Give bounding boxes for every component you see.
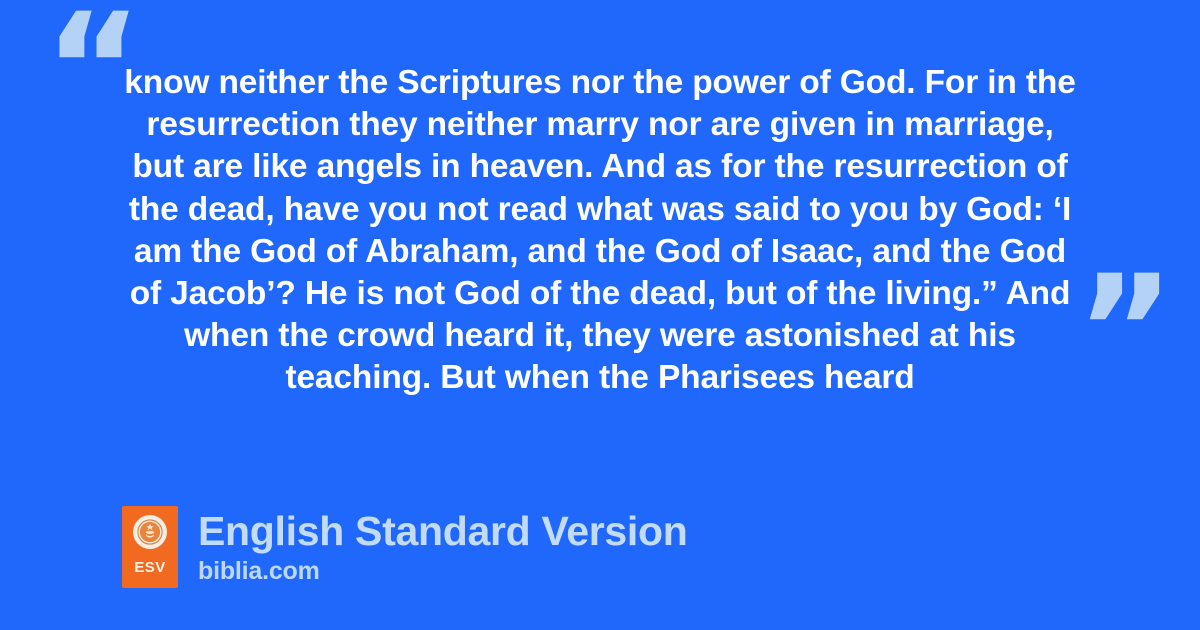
quote-line: the dead, have you not read what was sai…	[108, 189, 1092, 231]
quote-text-block: know neither the Scriptures nor the powe…	[108, 62, 1092, 400]
quote-line: of Jacob’? He is not God of the dead, bu…	[108, 273, 1092, 315]
attribution-footer: ESV English Standard Version biblia.com	[122, 506, 687, 588]
bible-verse-card: “ know neither the Scriptures nor the po…	[0, 0, 1200, 630]
source-site-name: biblia.com	[198, 557, 687, 586]
quote-line: teaching. But when the Pharisees heard	[108, 357, 1092, 399]
esv-crest-icon	[133, 515, 167, 549]
esv-logo-label: ESV	[134, 560, 165, 575]
close-quote-icon: ”	[1076, 256, 1173, 406]
quote-line: but are like angels in heaven. And as fo…	[108, 146, 1092, 188]
esv-logo: ESV	[122, 506, 178, 588]
quote-line: when the crowd heard it, they were aston…	[108, 315, 1092, 357]
attribution-text: English Standard Version biblia.com	[198, 506, 687, 586]
quote-line: know neither the Scriptures nor the powe…	[108, 62, 1092, 104]
quote-line: resurrection they neither marry nor are …	[108, 104, 1092, 146]
bible-version-name: English Standard Version	[198, 508, 687, 555]
quote-line: am the God of Abraham, and the God of Is…	[108, 231, 1092, 273]
